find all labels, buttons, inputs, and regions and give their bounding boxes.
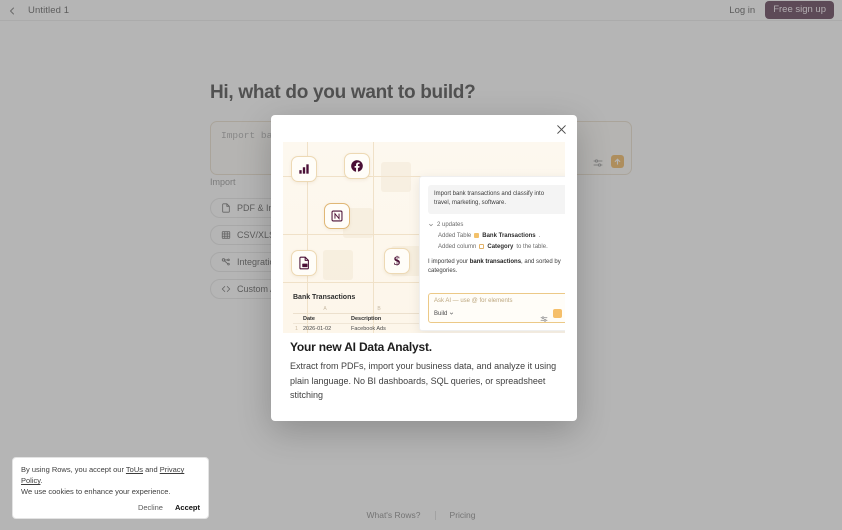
chevron-down-icon — [428, 222, 434, 228]
close-icon[interactable] — [555, 123, 568, 136]
send-arrow-icon[interactable] — [553, 309, 562, 318]
facebook-icon — [344, 153, 370, 179]
update-prefix: Added column — [438, 244, 476, 250]
update-chip-label: Bank Transactions — [482, 233, 535, 239]
cookie-text-line2: We use cookies to enhance your experienc… — [21, 487, 200, 498]
cookie-banner: By using Rows, you accept our ToUs and P… — [12, 457, 209, 519]
cookie-text-before: By using Rows, you accept our — [21, 465, 126, 474]
promo-modal: $ Bank Transactions A B Date Description… — [271, 115, 577, 421]
app-root: Untitled 1 Log in Free sign up Hi, what … — [0, 0, 842, 530]
column-header: Description — [349, 314, 409, 323]
update-suffix: to the table. — [516, 244, 547, 250]
updates-toggle-label: 2 updates — [437, 222, 463, 228]
ask-ai-placeholder[interactable]: Ask AI — use @ for elements — [434, 298, 562, 304]
assistant-message: I imported your bank transactions, and s… — [428, 258, 565, 277]
user-message-bubble: Import bank transactions and classify in… — [428, 185, 565, 214]
ask-ai-toolbar: Build — [434, 309, 562, 318]
modal-copy: Your new AI Data Analyst. Extract from P… — [290, 340, 561, 403]
update-prefix: Added Table — [438, 233, 471, 239]
assistant-text-before: I imported your — [428, 259, 470, 265]
ai-chat-panel: Import bank transactions and classify in… — [419, 176, 565, 331]
cookie-text-after: . — [40, 476, 42, 485]
letter-cell: B — [349, 305, 409, 313]
cell-description: Facebook Ads — [349, 324, 409, 333]
cookie-text: By using Rows, you accept our ToUs and P… — [21, 465, 200, 487]
table-swatch-icon — [474, 233, 479, 238]
pdf-file-icon — [291, 250, 317, 276]
grid-box — [323, 250, 353, 280]
sliders-icon[interactable] — [540, 310, 548, 318]
update-suffix: . — [539, 233, 541, 239]
ask-ai-composer[interactable]: Ask AI — use @ for elements Build — [428, 293, 565, 323]
letter-cell: A — [301, 305, 349, 313]
column-swatch-icon — [479, 244, 484, 249]
updates-toggle[interactable]: 2 updates — [428, 222, 565, 228]
modal-body: Extract from PDFs, import your business … — [290, 359, 561, 403]
cookie-decline-button[interactable]: Decline — [138, 503, 163, 512]
dollar-icon: $ — [384, 248, 410, 274]
update-item-table: Added Table Bank Transactions . — [438, 233, 565, 239]
notion-icon — [324, 203, 350, 229]
ask-ai-mode-label: Build — [434, 311, 447, 317]
dollar-glyph: $ — [394, 253, 401, 269]
update-item-column: Added column Category to the table. — [438, 244, 565, 250]
cell-date: 2026-01-02 — [301, 324, 349, 333]
update-chip-label: Category — [487, 244, 513, 250]
row-index — [293, 314, 301, 323]
modal-heading: Your new AI Data Analyst. — [290, 340, 561, 354]
cookie-actions: Decline Accept — [21, 503, 200, 512]
cookie-text-mid: and — [143, 465, 160, 474]
chevron-down-icon — [449, 311, 454, 316]
row-index: 1 — [293, 324, 301, 333]
tous-link[interactable]: ToUs — [126, 465, 143, 474]
grid-box — [381, 162, 411, 192]
modal-illustration: $ Bank Transactions A B Date Description… — [283, 142, 565, 333]
assistant-text-bold: bank transactions — [470, 259, 521, 265]
column-header: Date — [301, 314, 349, 323]
cookie-accept-button[interactable]: Accept — [175, 503, 200, 512]
ask-ai-mode-dropdown[interactable]: Build — [434, 311, 454, 317]
letter-cell — [293, 305, 301, 313]
bar-chart-icon — [291, 156, 317, 182]
